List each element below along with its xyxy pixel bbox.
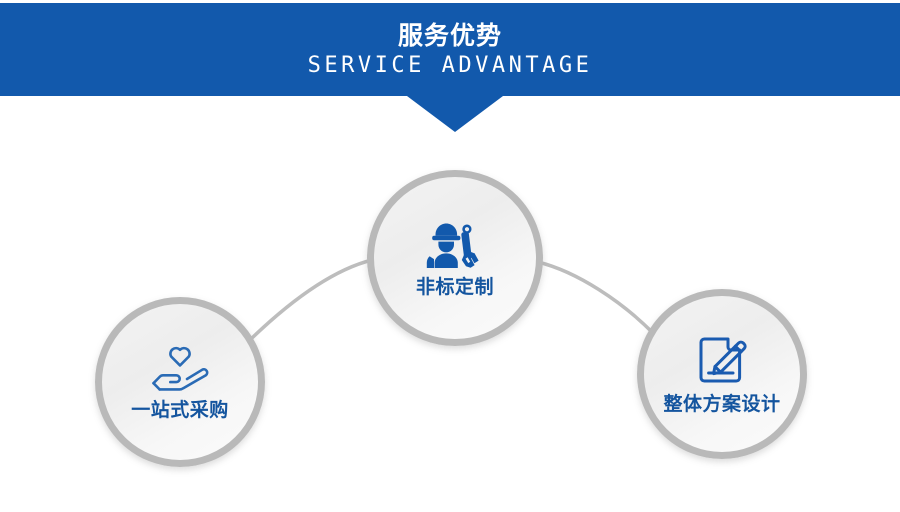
connector-left-to-center bbox=[252, 260, 372, 338]
document-pencil-icon bbox=[695, 333, 749, 387]
advantages-diagram: 非标定制 bbox=[0, 96, 900, 512]
header-banner: 服务优势 SERVICE ADVANTAGE bbox=[0, 3, 900, 96]
node-content: 整体方案设计 bbox=[637, 333, 807, 415]
node-label: 整体方案设计 bbox=[663, 393, 780, 415]
page-title-chinese: 服务优势 bbox=[398, 21, 502, 51]
node-content: 非标定制 bbox=[367, 218, 543, 298]
hand-holding-heart-icon bbox=[149, 343, 211, 393]
node-non-standard-customization[interactable]: 非标定制 bbox=[367, 170, 543, 346]
node-label: 非标定制 bbox=[416, 276, 494, 298]
node-content: 一站式采购 bbox=[95, 343, 265, 421]
node-one-stop-purchasing[interactable]: 一站式采购 bbox=[95, 297, 265, 467]
node-overall-solution-design[interactable]: 整体方案设计 bbox=[637, 289, 807, 459]
header-banner-text-group: 服务优势 SERVICE ADVANTAGE bbox=[0, 3, 900, 96]
node-label: 一站式采购 bbox=[131, 399, 229, 421]
service-advantage-page: 服务优势 SERVICE ADVANTAGE bbox=[0, 0, 900, 512]
page-title-english: SERVICE ADVANTAGE bbox=[308, 53, 593, 79]
worker-with-wrench-icon bbox=[426, 218, 484, 270]
connector-center-to-right bbox=[538, 262, 652, 332]
